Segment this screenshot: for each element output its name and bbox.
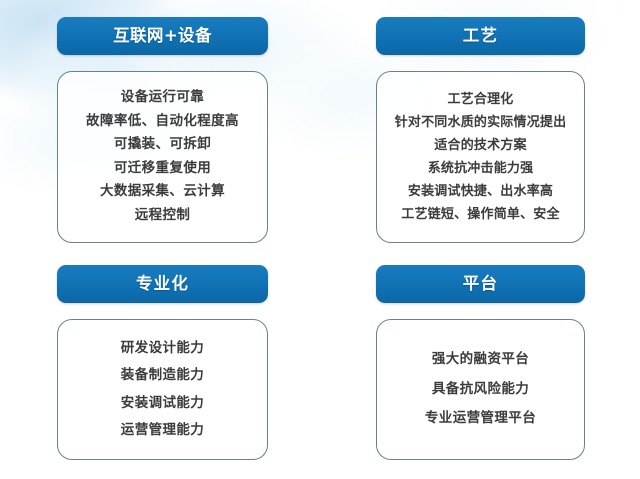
quadrant-process: 工艺 工艺合理化 针对不同水质的实际情况提出 适合的技术方案 系统抗冲击能力强 … [320, 0, 640, 243]
quadrant-title-specialization: 专业化 [136, 276, 189, 293]
card-line: 安装调试快捷、出水率高 [408, 180, 553, 203]
quadrant-header-internet-equipment[interactable]: 互联网+设备 [57, 17, 268, 55]
quadrant-header-process[interactable]: 工艺 [376, 17, 585, 55]
card-line: 具备抗风险能力 [432, 375, 529, 405]
card-line: 系统抗冲击能力强 [428, 157, 534, 180]
quadrant-header-platform[interactable]: 平台 [376, 265, 585, 303]
card-line: 针对不同水质的实际情况提出 [395, 111, 567, 134]
slide-canvas: 互联网+设备 设备运行可靠 故障率低、自动化程度高 可撬装、可拆卸 可迁移重复使… [0, 0, 640, 479]
card-line: 运营管理能力 [121, 417, 204, 445]
card-line: 可迁移重复使用 [114, 157, 211, 181]
quadrant-specialization: 专业化 研发设计能力 装备制造能力 安装调试能力 运营管理能力 [0, 243, 320, 479]
quadrant-internet-equipment: 互联网+设备 设备运行可靠 故障率低、自动化程度高 可撬装、可拆卸 可迁移重复使… [0, 0, 320, 243]
card-line: 装备制造能力 [121, 362, 204, 390]
quadrant-card-process: 工艺合理化 针对不同水质的实际情况提出 适合的技术方案 系统抗冲击能力强 安装调… [376, 71, 585, 243]
card-line: 故障率低、自动化程度高 [86, 110, 239, 134]
quadrant-header-specialization[interactable]: 专业化 [57, 265, 268, 303]
quadrant-title-process: 工艺 [463, 28, 498, 45]
quadrant-grid: 互联网+设备 设备运行可靠 故障率低、自动化程度高 可撬装、可拆卸 可迁移重复使… [0, 0, 640, 479]
card-line: 研发设计能力 [121, 335, 204, 363]
card-line: 远程控制 [135, 204, 191, 228]
quadrant-platform: 平台 强大的融资平台 具备抗风险能力 专业运营管理平台 [320, 243, 640, 479]
card-line: 工艺合理化 [447, 88, 513, 111]
card-line: 设备运行可靠 [121, 86, 204, 110]
card-line: 适合的技术方案 [434, 134, 526, 157]
card-line: 安装调试能力 [121, 390, 204, 418]
quadrant-card-specialization: 研发设计能力 装备制造能力 安装调试能力 运营管理能力 [57, 319, 268, 460]
quadrant-card-platform: 强大的融资平台 具备抗风险能力 专业运营管理平台 [376, 319, 585, 460]
card-line: 大数据采集、云计算 [100, 180, 225, 204]
quadrant-title-platform: 平台 [463, 276, 498, 293]
card-line: 强大的融资平台 [432, 345, 529, 375]
quadrant-title-internet-equipment: 互联网+设备 [113, 28, 212, 45]
card-line: 专业运营管理平台 [425, 404, 536, 434]
card-line: 工艺链短、操作简单、安全 [401, 203, 559, 226]
card-line: 可撬装、可拆卸 [114, 133, 211, 157]
quadrant-card-internet-equipment: 设备运行可靠 故障率低、自动化程度高 可撬装、可拆卸 可迁移重复使用 大数据采集… [57, 71, 268, 243]
